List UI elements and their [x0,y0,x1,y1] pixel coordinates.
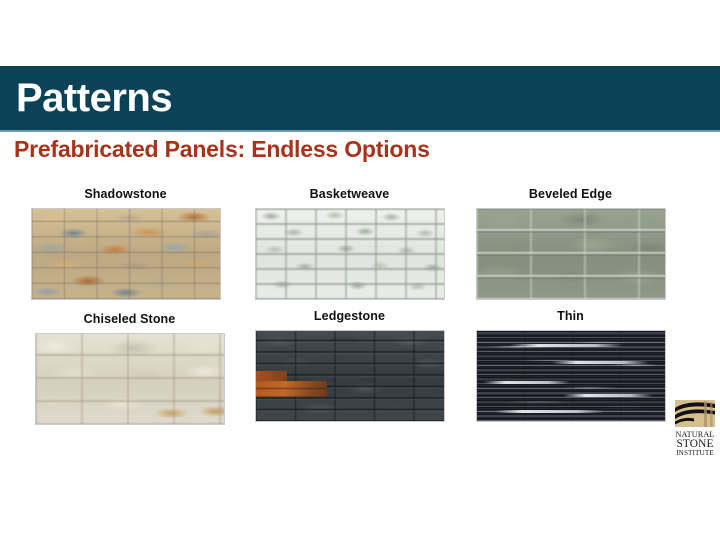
sample-label: Chiseled Stone [22,311,237,329]
page-title: Patterns [16,73,172,123]
sample-label: Shadowstone [18,186,233,204]
pattern-sample-chiseled-stone[interactable]: Chiseled Stone [22,311,237,425]
slate-highlight [495,410,604,413]
rust-accent-stone [256,381,327,397]
rust-accent-stone-secondary [256,371,288,382]
sample-label: Basketweave [242,186,457,204]
sample-image-shadowstone [31,208,221,300]
stone-texture [256,209,444,299]
pattern-sample-thin[interactable]: Thin [463,308,678,422]
slide-subtitle: Prefabricated Panels: Endless Options [14,136,430,163]
stone-texture [477,209,665,299]
pattern-sample-basketweave[interactable]: Basketweave [242,186,457,300]
sample-label: Ledgestone [242,308,457,326]
stone-book-mark [675,400,715,427]
sample-image-ledgestone [255,330,445,422]
banner-underline [0,130,720,132]
slide-canvas: Patterns Prefabricated Panels: Endless O… [0,0,720,540]
title-banner: Patterns [0,66,720,132]
sample-image-beveled-edge [476,208,666,300]
stone-texture [477,331,665,421]
sample-image-thin [476,330,666,422]
stone-texture [32,209,220,299]
sample-label: Beveled Edge [463,186,678,204]
slate-highlight [552,361,650,364]
pattern-sample-shadowstone[interactable]: Shadowstone [18,186,233,300]
stone-texture [36,334,224,424]
natural-stone-institute-logo[interactable]: NATURAL STONE INSTITUTE [674,399,716,457]
slate-highlight [484,381,570,384]
sample-image-basketweave [255,208,445,300]
pattern-sample-ledgestone[interactable]: Ledgestone [242,308,457,422]
pattern-sample-grid: Shadowstone Basketweave Beveled Edge Chi… [0,180,720,420]
stone-texture [256,331,444,421]
sample-label: Thin [463,308,678,326]
pattern-sample-beveled-edge[interactable]: Beveled Edge [463,186,678,300]
slate-highlight [563,394,653,397]
sample-image-chiseled-stone [35,333,225,425]
slate-highlight [510,344,623,347]
logo-line-3: INSTITUTE [676,449,714,457]
